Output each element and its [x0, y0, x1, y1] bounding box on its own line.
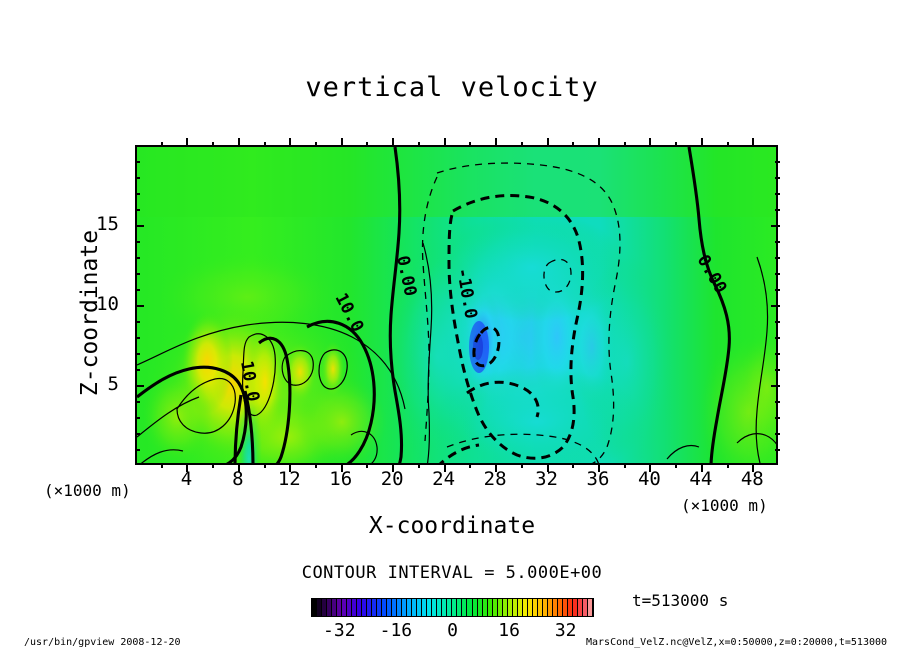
contour-plot-frame: 10.0 10.0 0.00 -10.0 0.00	[135, 145, 778, 465]
x-tick-top	[469, 142, 471, 147]
x-tick-top	[418, 142, 420, 147]
x-tick-top	[341, 138, 343, 147]
y-tick-right	[775, 449, 780, 451]
x-unit-right: (×1000 m)	[681, 496, 768, 515]
y-tick	[135, 385, 144, 387]
colorbar-tick-label: 16	[498, 620, 520, 641]
page-title: vertical velocity	[0, 72, 904, 103]
y-tick	[135, 289, 140, 291]
y-tick-right	[771, 385, 780, 387]
y-tick-right	[775, 209, 780, 211]
x-tick-top	[547, 138, 549, 147]
y-tick-right	[775, 353, 780, 355]
x-tick-top	[675, 142, 677, 147]
y-tick	[135, 337, 140, 339]
x-tick-top	[444, 138, 446, 147]
contour-interval-caption: CONTOUR INTERVAL = 5.000E+00	[0, 563, 904, 583]
time-label: t=513000 s	[632, 591, 728, 610]
x-tick-top	[366, 142, 368, 147]
x-tick-top	[264, 142, 266, 147]
x-tick-top	[495, 138, 497, 147]
x-tick-top	[392, 138, 394, 147]
y-tick-right	[775, 241, 780, 243]
y-tick-right	[775, 401, 780, 403]
y-tick	[135, 177, 140, 179]
y-tick	[135, 417, 140, 419]
x-tick-top	[572, 142, 574, 147]
y-tick-right	[775, 273, 780, 275]
y-tick-right	[771, 305, 780, 307]
x-tick-top	[521, 142, 523, 147]
y-tick-right	[775, 321, 780, 323]
footer-dataset: MarsCond_VelZ.nc@VelZ,x=0:50000,z=0:2000…	[586, 637, 887, 648]
y-tick	[135, 353, 140, 355]
y-tick-right	[775, 417, 780, 419]
colorbar-tick-label: -32	[323, 620, 356, 641]
y-tick	[135, 209, 140, 211]
y-tick	[135, 321, 140, 323]
x-tick-top	[752, 138, 754, 147]
colorbar-tick-label: 32	[555, 620, 577, 641]
y-tick-right	[775, 161, 780, 163]
footer-command: /usr/bin/gpview 2008-12-20	[24, 637, 181, 648]
colorbar-tick-label: -16	[380, 620, 413, 641]
colorbar-tick-labels: -32-1601632	[311, 620, 594, 642]
x-tick-top	[624, 142, 626, 147]
x-tick-top	[289, 138, 291, 147]
x-tick-top	[212, 142, 214, 147]
y-axis-title: Z-coordinate	[77, 203, 103, 423]
y-tick	[135, 449, 140, 451]
y-tick-right	[775, 257, 780, 259]
x-tick-top	[186, 138, 188, 147]
y-tick	[135, 241, 140, 243]
y-tick	[135, 305, 144, 307]
y-tick-right	[775, 337, 780, 339]
scalar-field: 10.0 10.0 0.00 -10.0 0.00	[137, 147, 776, 463]
y-tick-right	[775, 433, 780, 435]
x-tick-top	[649, 138, 651, 147]
x-tick-top	[727, 142, 729, 147]
x-tick-top	[598, 138, 600, 147]
colorbar-cell	[588, 599, 593, 616]
y-tick	[135, 369, 140, 371]
y-tick-right	[771, 225, 780, 227]
x-tick-top	[315, 142, 317, 147]
colorbar-tick-label: 0	[447, 620, 458, 641]
x-tick-label: 48	[722, 468, 782, 490]
y-tick-right	[775, 369, 780, 371]
x-tick-top	[701, 138, 703, 147]
y-tick-right	[775, 193, 780, 195]
vertical-velocity-field: 10.0 10.0 0.00 -10.0 0.00	[137, 147, 778, 465]
y-tick-right	[775, 177, 780, 179]
y-tick	[135, 193, 140, 195]
y-tick	[135, 257, 140, 259]
y-tick	[135, 225, 144, 227]
x-tick-top	[238, 138, 240, 147]
y-tick	[135, 273, 140, 275]
x-axis-title: X-coordinate	[0, 513, 904, 539]
y-tick-right	[775, 289, 780, 291]
y-tick	[135, 401, 140, 403]
y-tick	[135, 433, 140, 435]
x-tick-top	[161, 142, 163, 147]
y-tick	[135, 161, 140, 163]
x-unit-left: (×1000 m)	[44, 481, 131, 500]
colorbar	[311, 598, 594, 617]
